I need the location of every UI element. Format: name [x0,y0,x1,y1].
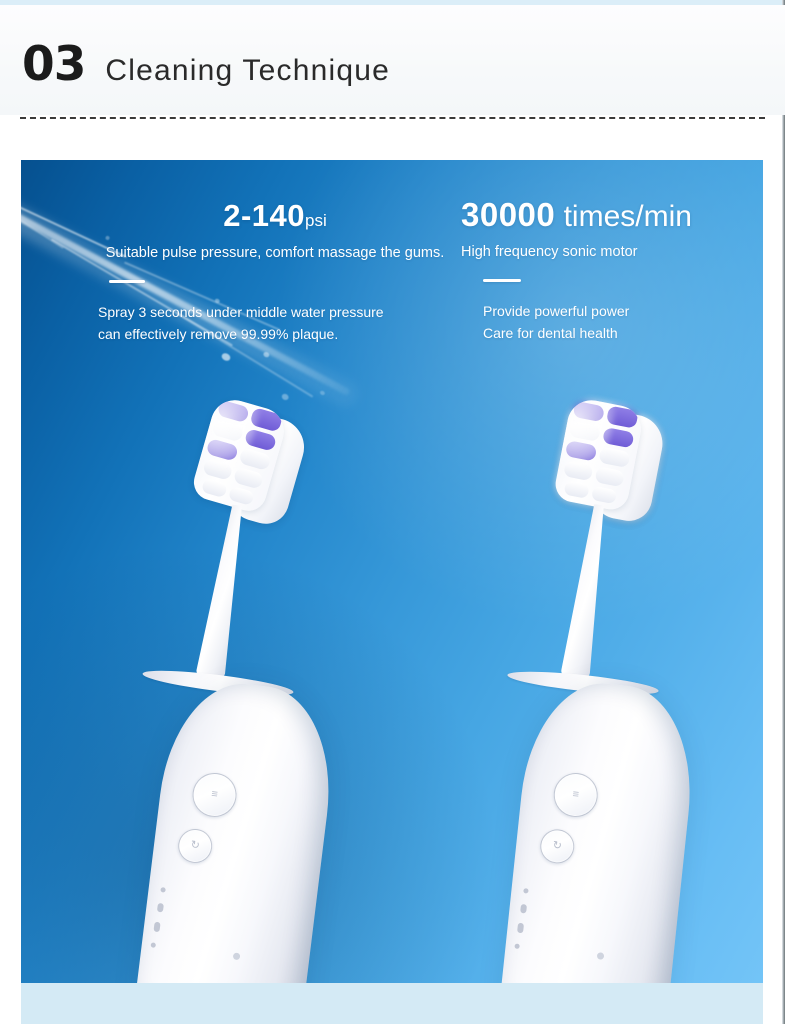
feature-headline-value: 2-140 [223,198,305,233]
header-dashed-divider [20,117,765,119]
charging-port [597,952,605,960]
mode-indicator-dot [523,888,528,893]
feature-headline: 30000 times/min [461,198,761,232]
power-button[interactable]: ≡ [552,771,600,819]
mode-indicator-dot [514,944,519,949]
mode-indicator-dot [517,923,524,934]
charging-port [233,952,241,960]
mode-icon: ↻ [190,840,200,852]
product-image-toothbrush-sonic-vibration: ≡ ↻ [441,323,763,983]
feature-subtitle: High frequency sonic motor [461,243,761,262]
brush-handle: ≡ ↻ [135,675,342,983]
bristle-tuft-white [563,481,589,499]
mode-indicator-dot [160,887,166,893]
power-icon: ≡ [211,789,219,801]
mode-indicator-dot [153,922,160,933]
product-image-toothbrush-water-spray: ≡ ↻ [76,323,406,983]
bristle-tuft-white [591,486,617,504]
feature-body-line: Spray 3 seconds under middle water press… [98,302,465,324]
footer-accent-strip [21,983,763,1024]
mode-indicator-dot [151,942,157,948]
mode-button[interactable]: ↻ [176,827,214,865]
bristle-tuft-white [228,486,255,506]
brush-neck [559,503,614,684]
brush-head [186,395,309,534]
water-strand [21,187,64,249]
product-feature-banner: 2-140psi Suitable pulse pressure, comfor… [21,160,763,983]
feature-headline: 2-140psi [85,200,465,231]
power-icon: ≡ [572,789,580,801]
feature-headline-value: 30000 [461,196,555,233]
header-content: 03 Cleaning Technique [22,41,390,88]
power-button[interactable]: ≡ [190,770,239,819]
mode-icon: ↻ [552,840,562,852]
section-number: 03 [22,41,85,88]
feature-headline-unit: times/min [555,200,692,233]
feature-divider [483,279,521,282]
feature-body-line: Provide powerful power [483,301,761,323]
brush-neck [194,503,252,685]
page-title: Cleaning Technique [105,56,390,86]
feature-divider [109,280,145,283]
mode-indicator-dot [157,903,164,913]
feature-headline-unit: psi [305,211,327,230]
bristle-tuft-white [201,478,228,498]
brush-handle: ≡ ↻ [499,676,701,983]
brush-head [550,396,665,530]
mode-indicator-dot [520,904,527,914]
page-header: 03 Cleaning Technique [0,5,785,115]
feature-subtitle: Suitable pulse pressure, comfort massage… [85,244,465,263]
mode-button[interactable]: ↻ [539,828,576,865]
